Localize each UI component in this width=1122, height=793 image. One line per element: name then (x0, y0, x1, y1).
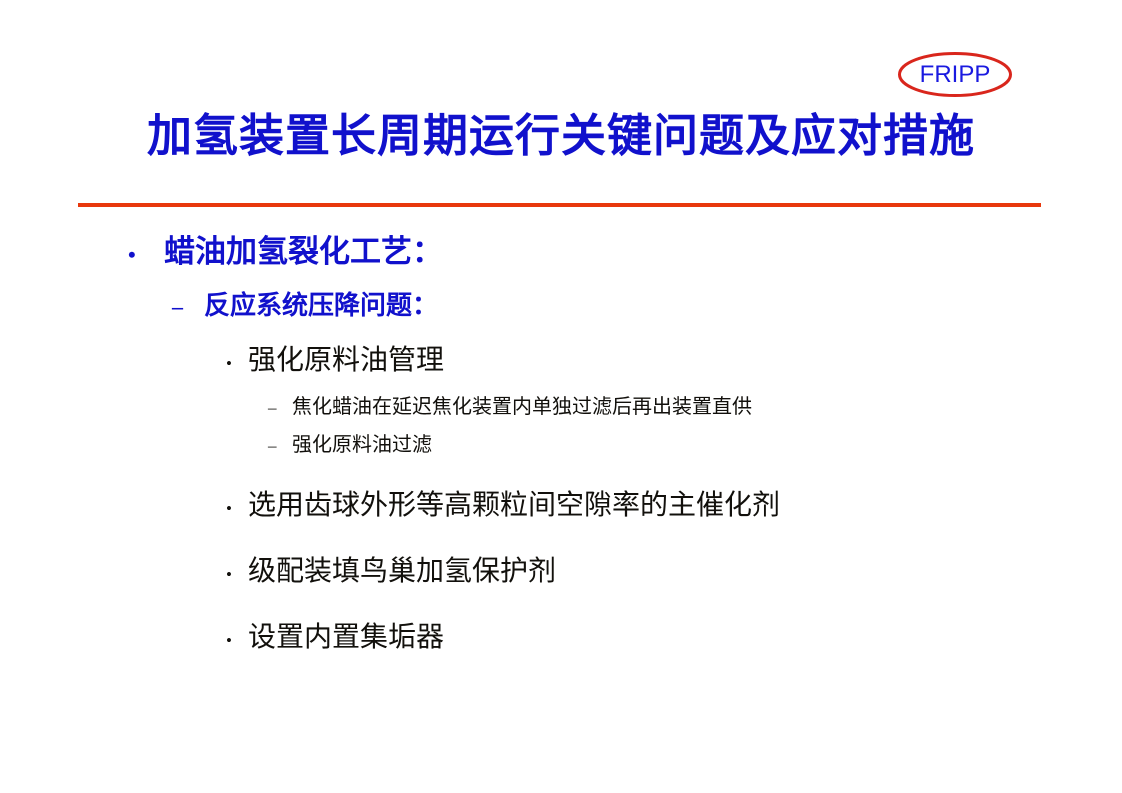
outline-text: 设置内置集垢器 (248, 615, 444, 655)
slide-canvas: FRIPP 加氢装置长周期运行关键问题及应对措施 • 蜡油加氢裂化工艺： – 反… (0, 0, 1122, 793)
outline-body: • 蜡油加氢裂化工艺： – 反应系统压降问题： • 强化原料油管理 – 焦化蜡油… (0, 226, 1122, 669)
outline-item-level3: • 强化原料油管理 (0, 338, 1122, 378)
outline-item-level4: – 焦化蜡油在延迟焦化装置内单独过滤后再出装置直供 (0, 390, 1122, 419)
outline-item-level3: • 级配装填鸟巢加氢保护剂 (0, 549, 1122, 589)
fripp-logo: FRIPP (897, 51, 1013, 98)
outline-item-level4: – 强化原料油过滤 (0, 428, 1122, 457)
outline-item-level3: • 设置内置集垢器 (0, 615, 1122, 655)
title-divider (78, 203, 1041, 207)
outline-item-level1: • 蜡油加氢裂化工艺： (0, 226, 1122, 271)
outline-text: 强化原料油过滤 (292, 428, 432, 457)
bullet-marker-level3: • (226, 354, 248, 374)
bullet-marker-level3: • (226, 565, 248, 585)
dash-marker-level4: – (268, 436, 292, 456)
outline-text: 级配装填鸟巢加氢保护剂 (248, 549, 556, 589)
page-title: 加氢装置长周期运行关键问题及应对措施 (0, 99, 1122, 164)
bullet-marker-level3: • (226, 499, 248, 519)
dash-marker-level4: – (268, 398, 292, 418)
outline-text: 强化原料油管理 (248, 338, 444, 378)
outline-item-level3: • 选用齿球外形等高颗粒间空隙率的主催化剂 (0, 483, 1122, 523)
outline-text: 蜡油加氢裂化工艺： (164, 226, 443, 271)
bullet-marker-level3: • (226, 631, 248, 651)
dash-marker-level2: – (172, 294, 204, 320)
outline-item-level2: – 反应系统压降问题： (0, 285, 1122, 322)
fripp-logo-text: FRIPP (897, 51, 1013, 98)
outline-text: 反应系统压降问题： (204, 285, 438, 322)
bullet-marker-level1: • (128, 242, 164, 268)
outline-text: 焦化蜡油在延迟焦化装置内单独过滤后再出装置直供 (292, 390, 752, 419)
outline-text: 选用齿球外形等高颗粒间空隙率的主催化剂 (248, 483, 780, 523)
